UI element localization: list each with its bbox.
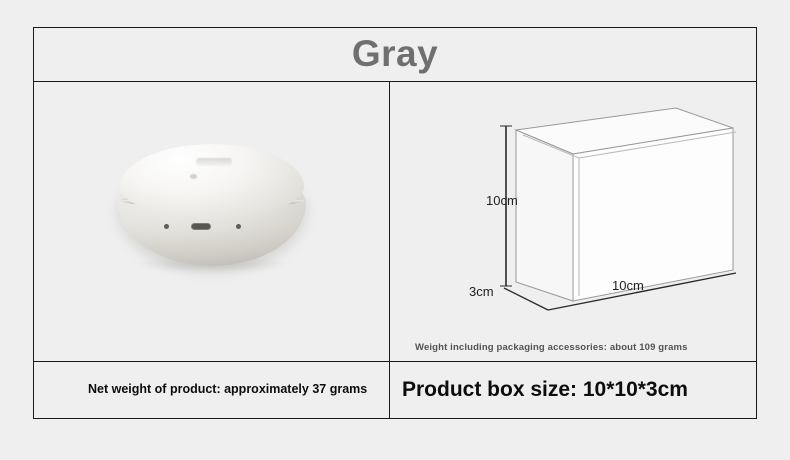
device-logo-icon (196, 158, 232, 166)
device-mic-hole-right-icon (236, 224, 241, 229)
packaging-weight-note: Weight including packaging accessories: … (415, 342, 688, 353)
box-depth-label: 3cm (469, 284, 494, 299)
device-usb-port-icon (191, 223, 211, 230)
device-mic-hole-left-icon (164, 224, 169, 229)
device-top-lid (120, 144, 304, 218)
title-row: Gray (34, 28, 756, 82)
net-weight-caption: Net weight of product: approximately 37 … (34, 382, 375, 397)
page-title: Gray (352, 35, 438, 74)
caption-row: Net weight of product: approximately 37 … (34, 362, 756, 418)
spec-panel: Gray (33, 27, 757, 419)
box-width-label: 10cm (612, 278, 644, 293)
product-image-cell (34, 82, 390, 361)
box-size-caption: Product box size: 10*10*3cm (390, 378, 688, 402)
device-top-dot-icon (190, 174, 197, 179)
box-size-cell: Product box size: 10*10*3cm (390, 362, 756, 418)
content-row: 10cm 3cm 10cm Weight including packaging… (34, 82, 756, 362)
box-height-label: 10cm (486, 193, 518, 208)
product-photo (34, 82, 389, 361)
box-diagram: 10cm 3cm 10cm Weight including packaging… (390, 82, 756, 361)
box-diagram-cell: 10cm 3cm 10cm Weight including packaging… (390, 82, 756, 361)
net-weight-cell: Net weight of product: approximately 37 … (34, 362, 390, 418)
device-illustration (112, 144, 312, 269)
